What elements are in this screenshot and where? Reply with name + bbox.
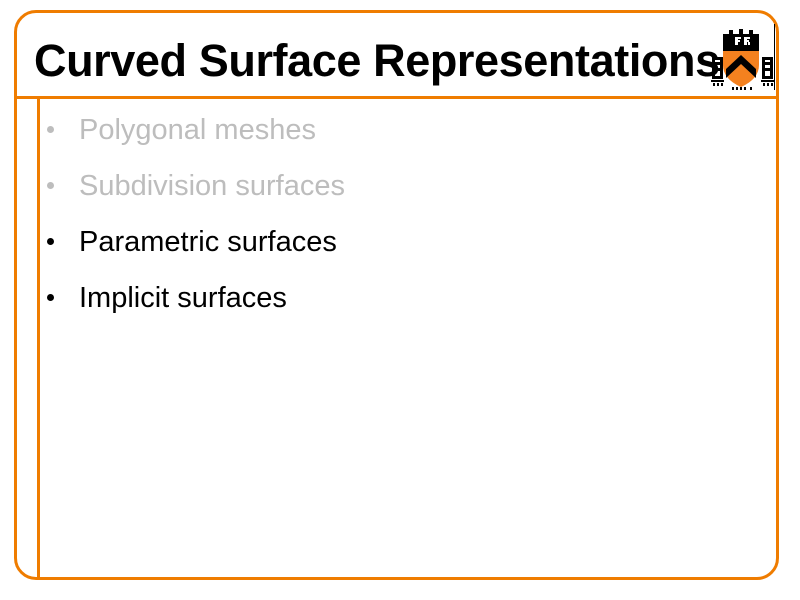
- list-item-label: Polygonal meshes: [79, 108, 316, 152]
- list-item-label: Parametric surfaces: [79, 220, 337, 264]
- title-divider-rule: [17, 96, 776, 99]
- left-supporter-icon: [711, 57, 724, 86]
- shield-icon: [710, 24, 776, 94]
- bullet-dot-icon: [47, 294, 54, 301]
- princeton-shield-logo: [710, 24, 776, 94]
- page-title: Curved Surface Representations: [34, 34, 694, 88]
- logo-divider-rule: [774, 24, 775, 90]
- bullet-list: Polygonal meshes Subdivision surfaces Pa…: [44, 108, 734, 332]
- list-item[interactable]: Implicit surfaces: [44, 276, 734, 332]
- title-area: Curved Surface Representations: [34, 34, 694, 92]
- body-left-accent-rule: [37, 99, 40, 580]
- list-item[interactable]: Subdivision surfaces: [44, 164, 734, 220]
- slide: Curved Surface Representations: [0, 0, 800, 600]
- crown-band-icon: [723, 29, 759, 51]
- list-item-label: Subdivision surfaces: [79, 164, 345, 208]
- list-item-label: Implicit surfaces: [79, 276, 287, 320]
- list-item[interactable]: Polygonal meshes: [44, 108, 734, 164]
- bullet-dot-icon: [47, 126, 54, 133]
- bullet-dot-icon: [47, 182, 54, 189]
- shield-motto-icon: [732, 87, 752, 90]
- list-item[interactable]: Parametric surfaces: [44, 220, 734, 276]
- right-supporter-icon: [761, 57, 774, 86]
- bullet-dot-icon: [47, 238, 54, 245]
